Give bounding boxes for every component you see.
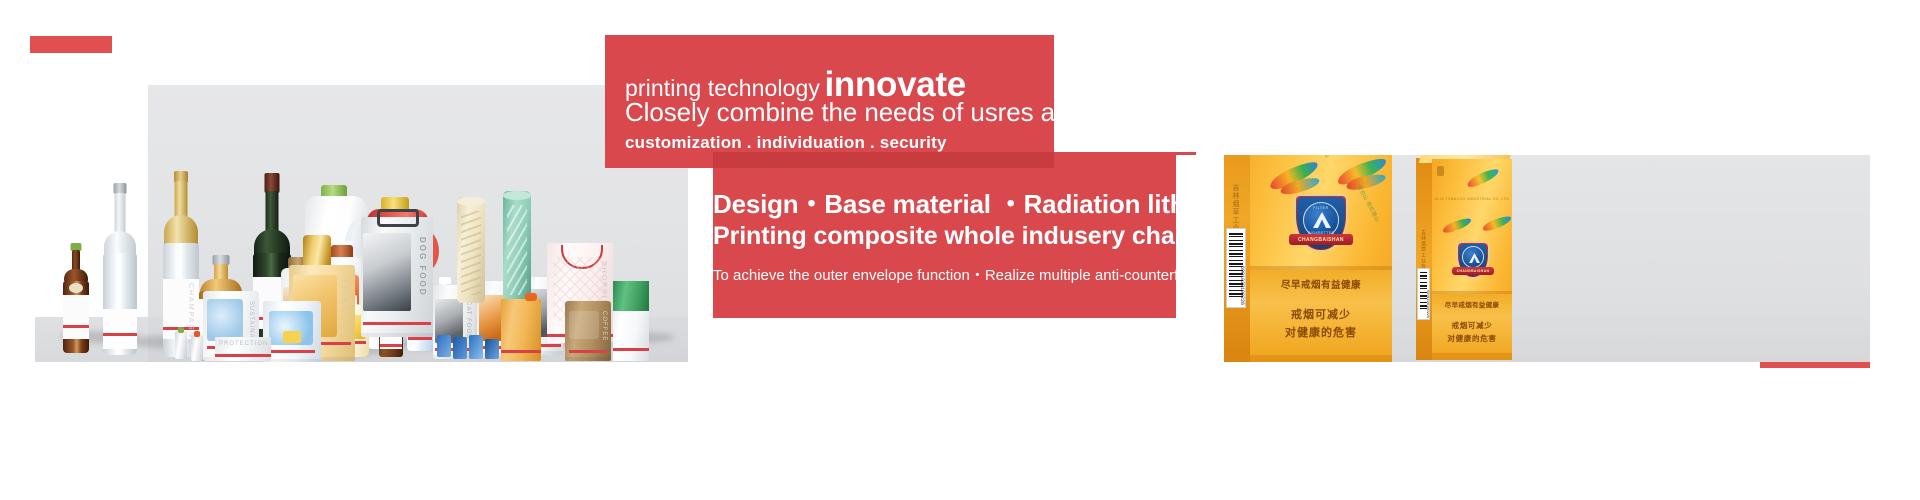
- pack-diagonal-text: 长白山 软红塔山: [1356, 184, 1381, 223]
- capability-line-2: Printing composite whole indusery chain: [713, 222, 1196, 251]
- pack-warning-line-1: 尽早戒烟有益健康: [1250, 280, 1392, 292]
- product-wallpaper-roll-green: [503, 191, 531, 303]
- emblem-top-text: FILTER: [1304, 206, 1338, 210]
- product-dog-food-bag: DOG FOOD: [361, 217, 433, 337]
- pack-warning-line-2: 戒烟可减少: [1250, 308, 1392, 322]
- product-detergent-pouch: [263, 301, 321, 362]
- product-sachet: [469, 335, 483, 359]
- product-coffee-bag: COFFEE: [565, 301, 611, 361]
- product-tube: [175, 331, 187, 359]
- cat-food-pouch-label: CAT FOOD: [465, 301, 471, 339]
- product-sachet: [453, 337, 467, 359]
- emblem-ribbon: CHANGBAISHAN: [1452, 267, 1494, 275]
- capability-line-1: Design・Base material ・Radiation lithogra…: [713, 184, 1196, 221]
- emblem-mountain-icon: [1313, 212, 1331, 228]
- emblem-ribbon-text: CHANGBAISHAN: [1452, 269, 1494, 273]
- product-sachet: [485, 339, 499, 359]
- headline-subtext: Closely combine the needs of usres and b…: [625, 97, 1170, 128]
- pack-small-warning-line-3: 对健康的危害: [1432, 334, 1512, 343]
- protection-box-label: PROTECTION: [219, 341, 268, 347]
- pack-small-tiny-icon: [1437, 166, 1444, 176]
- cigarette-pack-large: 吉林烟草工业有限责任公司出品 JILIN TOBACCO INDUSTRIAL …: [1224, 155, 1392, 362]
- pack-base-edge: [1250, 355, 1392, 362]
- cigarette-pack-small: 吉林烟草工业有限责任公司 JILIN TOBACCO INDUSTRIAL CO…: [1416, 155, 1512, 360]
- headline-panel: printing technology innovate Closely com…: [605, 35, 1054, 168]
- pack-small-front-face: JILIN TOBACCO INDUSTRIAL CO.,LTD. CHANGB…: [1432, 159, 1512, 360]
- emblem-ribbon: CHANGBAISHAN: [1289, 234, 1353, 245]
- product-wallpaper-roll-cream: [457, 197, 485, 303]
- pack-emblem: FILTER CIGARETTES CHANGBAISHAN: [1294, 194, 1348, 252]
- accent-bar-top-left: [30, 36, 112, 53]
- pack-small-swoosh: [1465, 167, 1500, 190]
- barcode-number: 6901028100226: [1230, 266, 1245, 305]
- dog-food-bag-label: DOG FOOD: [418, 237, 427, 297]
- champagne-label-text: CHAMPAGNE: [168, 283, 194, 323]
- product-milk-carton: [613, 281, 649, 361]
- fries-bag-label: FRIES: [340, 279, 349, 313]
- pack-barcode: 6901028100226: [1226, 228, 1246, 308]
- emblem-mountain-icon: [1469, 253, 1480, 263]
- panel-overlap-strip: [713, 152, 1054, 168]
- emblem-disc: [1462, 246, 1484, 268]
- product-sachet: [437, 335, 451, 357]
- cigarette-pack-image: 吉林烟草工业有限责任公司出品 JILIN TOBACCO INDUSTRIAL …: [1176, 155, 1870, 362]
- product-juice-carton: [501, 299, 541, 361]
- product-protection-box: PROTECTION: [215, 337, 271, 361]
- capability-panel: Design・Base material ・Radiation lithogra…: [713, 152, 1196, 318]
- pack-small-corporate-text: JILIN TOBACCO INDUSTRIAL CO.,LTD.: [1432, 197, 1512, 201]
- pack-small-base-edge: [1432, 353, 1512, 360]
- product-water-bottle: [103, 183, 137, 355]
- barcode-number: 6901028100226: [1420, 290, 1429, 318]
- pack-diagonal-text: 长白山 软红塔山: [1306, 155, 1331, 159]
- emblem-disc: FILTER CIGARETTES: [1303, 202, 1339, 238]
- pack-small-warning-line-1: 尽早戒烟有益健康: [1432, 301, 1512, 309]
- cig-scene-bg-white: [1176, 155, 1224, 362]
- product-beer-bottle: [63, 243, 89, 353]
- pack-small-warning-line-2: 戒烟可减少: [1432, 321, 1512, 330]
- pack-warning-line-3: 对健康的危害: [1250, 326, 1392, 340]
- banner-stage: CHAMPAGNE WHISKY: [0, 0, 1920, 500]
- coffee-bag-label: COFFEE: [601, 311, 607, 341]
- pack-small-left-side: 吉林烟草工业有限责任公司: [1416, 158, 1432, 360]
- pack-small-swoosh: [1481, 214, 1512, 233]
- product-tube: [191, 335, 203, 361]
- pack-small-barcode: 6901028100226: [1417, 268, 1430, 320]
- pack-small-emblem: CHANGBAISHAN: [1456, 241, 1490, 279]
- emblem-ribbon-text: CHANGBAISHAN: [1289, 237, 1353, 243]
- pack-front-face: JILIN TOBACCO INDUSTRIAL CO.,LTD. 长白山 软红…: [1250, 155, 1392, 362]
- product-collage-image: CHAMPAGNE WHISKY: [35, 85, 688, 362]
- headline-keywords: customization . individuation . security: [625, 133, 947, 153]
- capability-line-3: To achieve the outer envelope function・R…: [713, 264, 1196, 285]
- pack-small-swoosh: [1441, 216, 1472, 235]
